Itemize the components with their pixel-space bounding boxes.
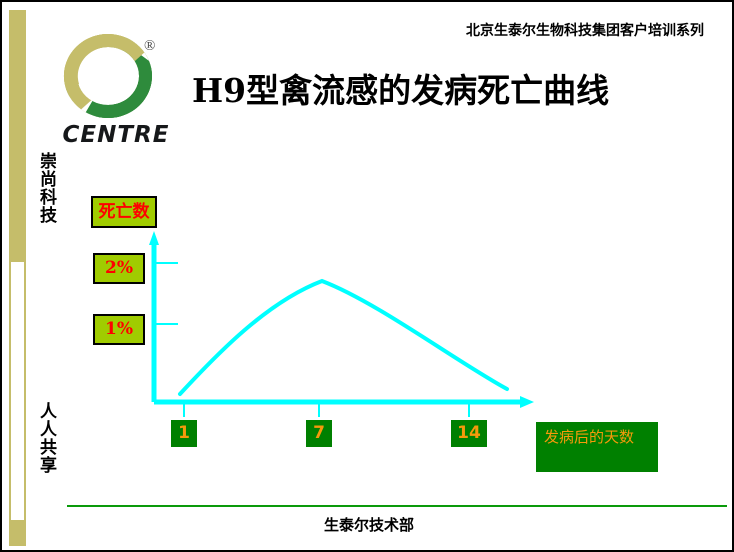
footer-divider [67,505,727,507]
y-axis-title-box: 死亡数 [91,196,157,228]
logo-wordmark: CENTRE [60,122,172,148]
slide-canvas: 崇尚科技 人人共享 北京生泰尔生物科技集团客户培训系列 [0,0,734,552]
centre-logo-icon [60,30,156,122]
x-axis-arrowhead [520,396,534,408]
slide-header-text: 北京生泰尔生物科技集团客户培训系列 [466,20,704,40]
sidebar-slogan-top: 崇尚科技 [28,152,54,224]
registered-trademark-icon: ® [144,38,155,55]
company-logo: ® CENTRE [60,30,172,152]
footer-text: 生泰尔技术部 [2,514,734,535]
x-tick-label-day-14: 14 [451,420,487,447]
sidebar-slogan-bottom: 人人共享 [28,402,54,474]
x-axis-title-box: 发病后的天数 [536,422,658,472]
y-tick-label-1pct: 1% [93,314,145,345]
x-tick-label-day-1: 1 [171,420,197,447]
sidebar-accent-bar-top [9,10,26,260]
sidebar-accent-bar-outline [9,260,26,522]
y-tick-label-2pct: 2% [93,253,145,284]
y-axis-arrowhead [149,231,159,245]
x-tick-label-day-7: 7 [306,420,332,447]
slide-title: H9型禽流感的发病死亡曲线 [192,64,682,112]
mortality-curve-line [180,281,507,394]
